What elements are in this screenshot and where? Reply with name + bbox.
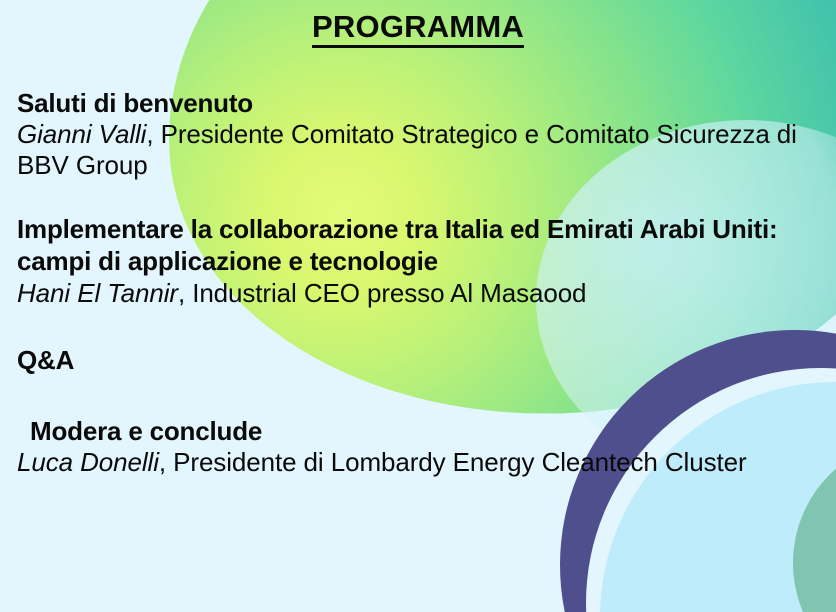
agenda-item-2-speaker-role: , Industrial CEO presso Al Masaood	[178, 278, 586, 308]
page-title: PROGRAMMA	[0, 9, 836, 45]
agenda-item-4: Modera e conclude Luca Donelli, Presiden…	[17, 416, 829, 478]
agenda-item-1-title: Saluti di benvenuto	[17, 88, 829, 119]
agenda-item-2-speaker-name: Hani El Tannir	[17, 278, 178, 308]
agenda-item-3-title: Q&A	[17, 345, 829, 376]
page-title-text: PROGRAMMA	[312, 9, 524, 48]
agenda-item-4-speaker-role: , Presidente di Lombardy Energy Cleantec…	[159, 447, 747, 477]
agenda-item-1-speaker: Gianni Valli, Presidente Comitato Strate…	[17, 119, 829, 182]
agenda-item-4-speaker: Luca Donelli, Presidente di Lombardy Ene…	[17, 447, 829, 479]
agenda-item-1-speaker-name: Gianni Valli	[17, 119, 146, 149]
agenda-item-4-speaker-name: Luca Donelli	[17, 447, 159, 477]
agenda-item-2: Implementare la collaborazione tra Itali…	[17, 214, 829, 309]
agenda-item-4-title: Modera e conclude	[17, 416, 829, 447]
agenda-item-2-title: Implementare la collaborazione tra Itali…	[17, 214, 829, 277]
presentation-slide: PROGRAMMA Saluti di benvenuto Gianni Val…	[0, 0, 836, 612]
agenda-item-2-speaker: Hani El Tannir, Industrial CEO presso Al…	[17, 278, 829, 310]
agenda-list: Saluti di benvenuto Gianni Valli, Presid…	[17, 88, 829, 478]
agenda-item-3: Q&A	[17, 345, 829, 376]
slide-content: PROGRAMMA Saluti di benvenuto Gianni Val…	[0, 0, 836, 612]
agenda-item-1: Saluti di benvenuto Gianni Valli, Presid…	[17, 88, 829, 182]
